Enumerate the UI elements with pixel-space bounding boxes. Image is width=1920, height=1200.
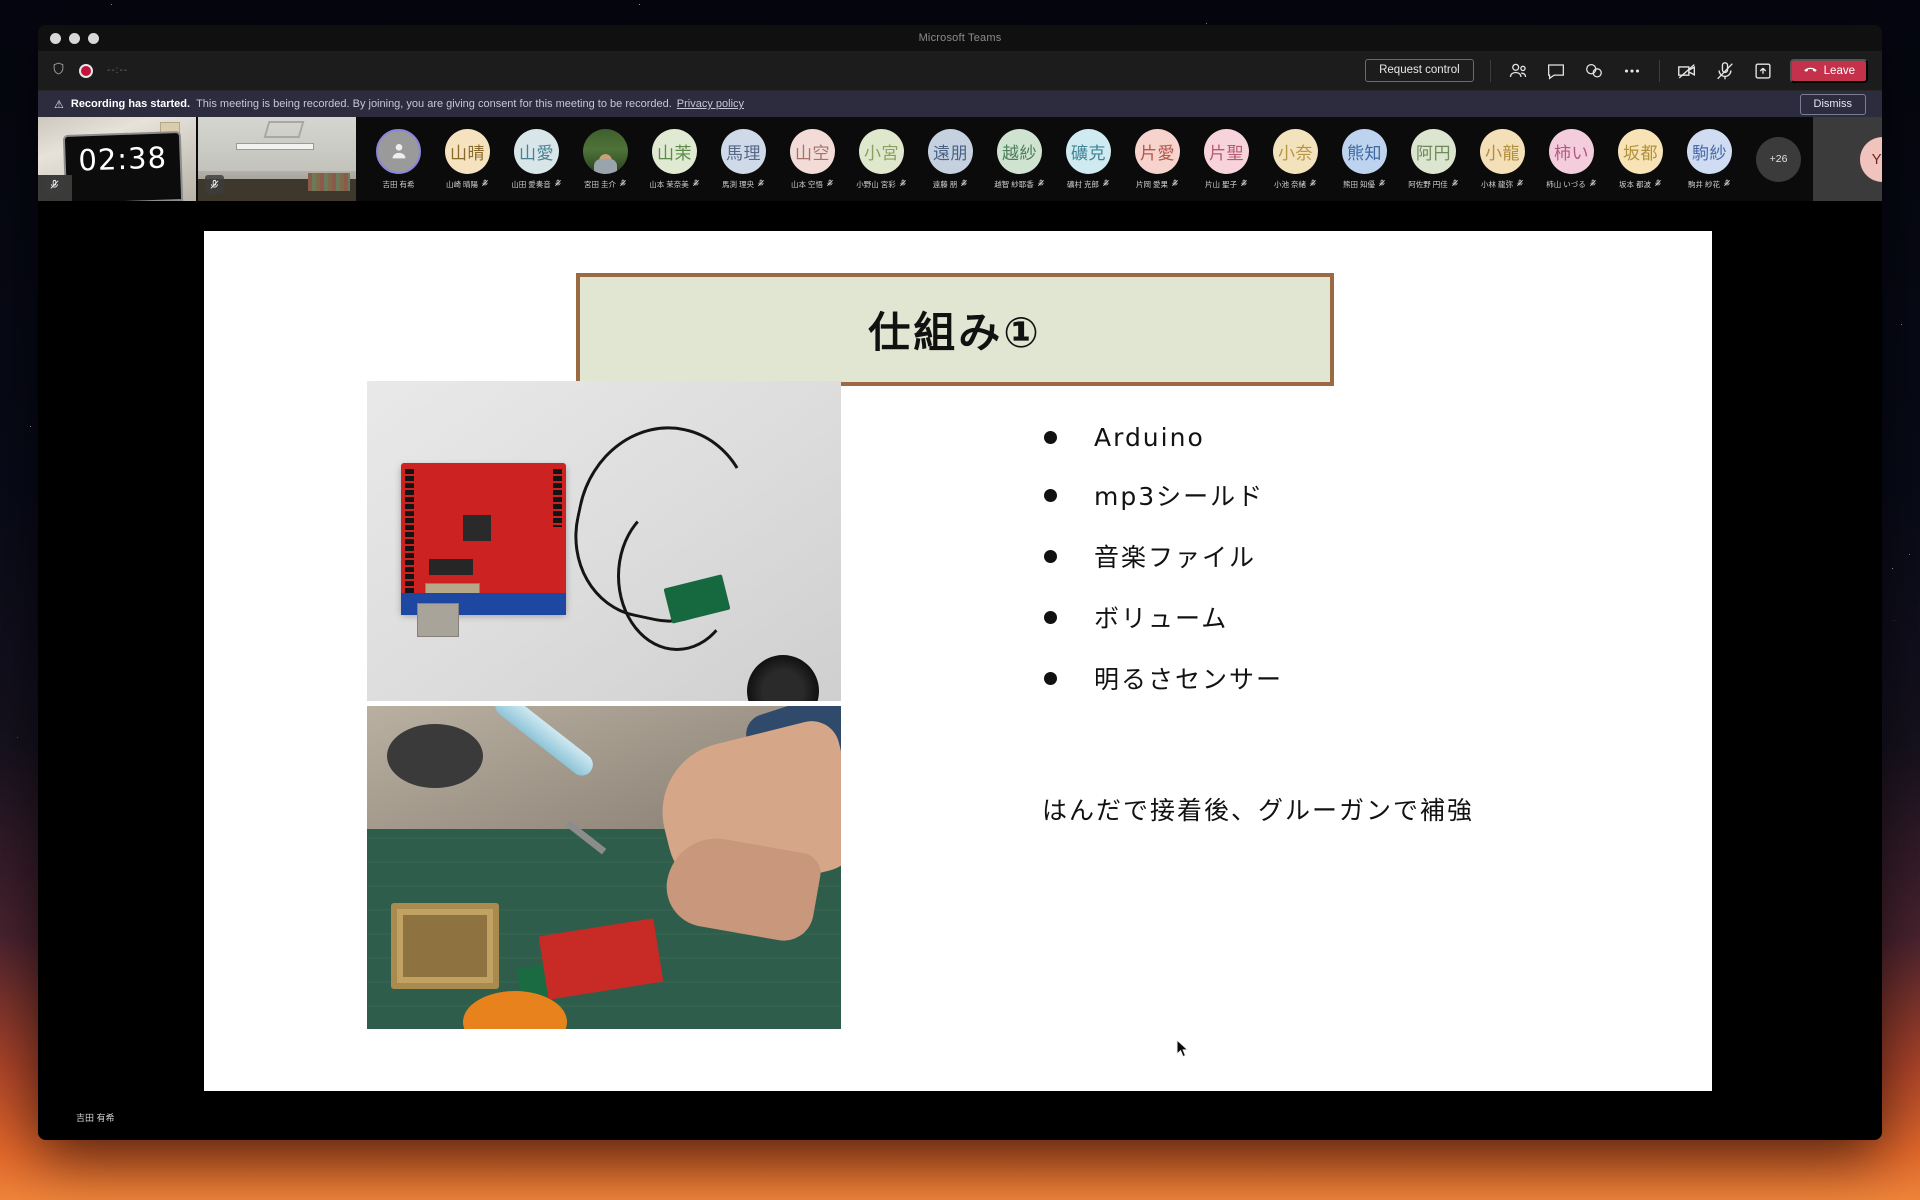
- mic-off-icon: [1654, 179, 1662, 189]
- mic-off-icon[interactable]: [1714, 60, 1736, 82]
- participant-name: 山田 愛奏音: [511, 179, 562, 190]
- shared-content-stage: 仕組み①: [38, 201, 1882, 1140]
- participant-6[interactable]: 馬理馬渕 理央: [709, 129, 778, 190]
- recording-headline: Recording has started.: [71, 98, 190, 110]
- more-options-icon[interactable]: [1621, 60, 1643, 82]
- bullet-text: 明るさセンサー: [1094, 660, 1283, 696]
- participant-name: 片岡 愛果: [1136, 179, 1179, 190]
- ceiling-vent: [264, 121, 305, 138]
- photo-soldering: [367, 706, 841, 1029]
- ic-chip: [429, 559, 473, 575]
- video-tile-clock[interactable]: 02:38: [38, 117, 198, 201]
- overflow-participants[interactable]: +26: [1744, 137, 1813, 182]
- participant-5[interactable]: 山茉山本 茉奈美: [640, 129, 709, 190]
- mic-off-icon: [1240, 179, 1248, 189]
- pin-header-right: [553, 469, 562, 527]
- participant-name: 馬渕 理央: [722, 179, 765, 190]
- meeting-toolbar: --:-- Request control: [38, 51, 1882, 91]
- bullet-dot-icon: [1044, 489, 1057, 502]
- star: [1909, 554, 1910, 555]
- camera-off-icon[interactable]: [1676, 60, 1698, 82]
- slide-bullet-list: Arduinomp3シールド音楽ファイルボリューム明るさセンサー: [1044, 423, 1283, 721]
- participant-12[interactable]: 片愛片岡 愛果: [1123, 129, 1192, 190]
- avatar: 礦克: [1066, 129, 1111, 174]
- avatar: 山茉: [652, 129, 697, 174]
- mic-off-icon: [554, 179, 562, 189]
- mic-off-icon: [960, 179, 968, 189]
- participant-name: 阿佐野 円佳: [1408, 179, 1459, 190]
- recording-body-text: This meeting is being recorded. By joini…: [196, 98, 672, 110]
- mic-off-icon: [1589, 179, 1597, 189]
- mic-off-icon: [692, 179, 700, 189]
- mic-off-icon: [481, 179, 489, 189]
- participant-name: 山本 茉奈美: [649, 179, 700, 190]
- leave-button[interactable]: Leave: [1790, 59, 1868, 83]
- participant-1[interactable]: 吉田 有希: [364, 129, 433, 190]
- bullet-item-2: mp3シールド: [1044, 477, 1283, 513]
- star: [1894, 620, 1895, 621]
- desk-clutter: [387, 724, 483, 788]
- leave-button-label: Leave: [1824, 65, 1855, 77]
- bullet-dot-icon: [1044, 431, 1057, 444]
- star: [30, 426, 31, 427]
- star: [111, 4, 112, 5]
- participant-roster-strip[interactable]: 02:38 吉田 有希山晴山崎 晴陽山愛山田: [38, 117, 1882, 201]
- warning-icon: ⚠: [54, 98, 64, 111]
- soldering-iron: [491, 706, 598, 780]
- mic-off-icon: [1451, 179, 1459, 189]
- participant-name: 宮田 圭介: [584, 179, 627, 190]
- participant-name: 小林 龍弥: [1481, 179, 1524, 190]
- avatar: 片愛: [1135, 129, 1180, 174]
- participant-7[interactable]: 山空山本 空悟: [778, 129, 847, 190]
- overflow-count-badge: +26: [1756, 137, 1801, 182]
- participant-16[interactable]: 阿円阿佐野 円佳: [1399, 129, 1468, 190]
- avatar: 坂都: [1618, 129, 1663, 174]
- ceiling-light: [236, 143, 314, 150]
- star: [639, 4, 640, 5]
- star: [1901, 324, 1902, 325]
- star: [17, 737, 18, 738]
- participant-name: 山崎 晴陽: [446, 179, 489, 190]
- bullet-dot-icon: [1044, 611, 1057, 624]
- participant-13[interactable]: 片聖片山 聖子: [1192, 129, 1261, 190]
- meeting-timer: --:--: [107, 65, 128, 76]
- pin-header-left: [405, 469, 414, 607]
- participant-4[interactable]: 宮田 圭介: [571, 129, 640, 190]
- participant-name: 遠藤 朋: [933, 179, 969, 190]
- avatar-photo: [583, 129, 628, 174]
- avatar: 阿円: [1411, 129, 1456, 174]
- avatar: 遠朋: [928, 129, 973, 174]
- slide-footnote: はんだで接着後、グルーガンで補強: [1042, 791, 1474, 827]
- participant-name: 小野山 宮彩: [856, 179, 907, 190]
- mic-off-icon: [1171, 179, 1179, 189]
- countdown-timer-value: 02:38: [65, 133, 181, 185]
- mouse-cursor: [1176, 1039, 1189, 1063]
- avatar: 小宮: [859, 129, 904, 174]
- slide-title-text: 仕組み①: [868, 299, 1042, 360]
- presenter-name-label: 吉田 有希: [76, 1111, 115, 1124]
- participant-18[interactable]: 柿い柿山 いづる: [1537, 129, 1606, 190]
- slide-title-box: 仕組み①: [576, 273, 1334, 386]
- record-icon[interactable]: [79, 64, 93, 78]
- toolbar-divider-2: [1659, 60, 1660, 82]
- avatar: 山愛: [514, 129, 559, 174]
- avatar: 馬理: [721, 129, 766, 174]
- star: [1892, 568, 1893, 569]
- bullet-text: mp3シールド: [1094, 477, 1264, 513]
- avatar: 熊知: [1342, 129, 1387, 174]
- toolbar-divider: [1490, 60, 1491, 82]
- bullet-item-5: 明るさセンサー: [1044, 660, 1283, 696]
- mic-off-icon: [1309, 179, 1317, 189]
- microcontroller-chip: [463, 515, 491, 541]
- bullet-text: ボリューム: [1094, 599, 1228, 635]
- shield-icon: [52, 61, 65, 81]
- video-tile-room[interactable]: [198, 117, 358, 201]
- participant-name: 柿山 いづる: [1546, 179, 1597, 190]
- avatar: 駒紗: [1687, 129, 1732, 174]
- mic-off-icon: [1516, 179, 1524, 189]
- bullet-item-4: ボリューム: [1044, 599, 1283, 635]
- participant-name: 坂本 都波: [1619, 179, 1662, 190]
- bullet-item-3: 音楽ファイル: [1044, 538, 1283, 574]
- avatar: 越紗: [997, 129, 1042, 174]
- self-video-tile[interactable]: YN: [1813, 117, 1882, 201]
- tablet-device: 02:38: [63, 131, 183, 201]
- share-screen-icon[interactable]: [1752, 60, 1774, 82]
- participant-name: 小池 奈緒: [1274, 179, 1317, 190]
- participant-name: 越智 紗耶香: [994, 179, 1045, 190]
- participant-14[interactable]: 小奈小池 奈緒: [1261, 129, 1330, 190]
- bullet-text: Arduino: [1094, 423, 1205, 452]
- participant-15[interactable]: 熊知熊田 知優: [1330, 129, 1399, 190]
- participant-9[interactable]: 遠朋遠藤 朋: [916, 129, 985, 190]
- participant-avatars[interactable]: 吉田 有希山晴山崎 晴陽山愛山田 愛奏音宮田 圭介山茉山本 茉奈美馬理馬渕 理央…: [358, 117, 1813, 201]
- participant-19[interactable]: 坂都坂本 都波: [1606, 129, 1675, 190]
- solder-sponge-box: [391, 903, 499, 989]
- mic-off-icon: [1037, 179, 1045, 189]
- people-icon[interactable]: [1507, 60, 1529, 82]
- avatar: 小奈: [1273, 129, 1318, 174]
- mic-off-icon: [1378, 179, 1386, 189]
- avatar: 片聖: [1204, 129, 1249, 174]
- bullet-text: 音楽ファイル: [1094, 538, 1256, 574]
- mic-off-icon: [1723, 179, 1731, 189]
- bullet-dot-icon: [1044, 672, 1057, 685]
- star: [1206, 23, 1207, 24]
- chat-icon[interactable]: [1545, 60, 1567, 82]
- participant-name: 吉田 有希: [382, 179, 414, 190]
- teams-window: Microsoft Teams --:-- Request control: [38, 25, 1882, 1140]
- mic-off-icon: [826, 179, 834, 189]
- participant-17[interactable]: 小龍小林 龍弥: [1468, 129, 1537, 190]
- avatar: YN: [1860, 137, 1883, 182]
- avatar: 山晴: [445, 129, 490, 174]
- avatar: 山空: [790, 129, 835, 174]
- window-titlebar: Microsoft Teams: [38, 25, 1882, 51]
- avatar: [376, 129, 421, 174]
- photo-arduino-mp3-shield: [367, 381, 841, 701]
- usb-port: [417, 603, 459, 637]
- participant-name: 熊田 知優: [1343, 179, 1386, 190]
- mic-off-icon: [757, 179, 765, 189]
- participant-name: 山本 空悟: [791, 179, 834, 190]
- dismiss-banner-button[interactable]: Dismiss: [1800, 94, 1867, 115]
- request-control-button[interactable]: Request control: [1365, 59, 1474, 82]
- participant-11[interactable]: 礦克礦村 克郎: [1054, 129, 1123, 190]
- bullet-item-1: Arduino: [1044, 423, 1283, 452]
- participant-2[interactable]: 山晴山崎 晴陽: [433, 129, 502, 190]
- participant-name: 片山 聖子: [1205, 179, 1248, 190]
- mic-off-icon: [205, 175, 224, 194]
- avatar: 柿い: [1549, 129, 1594, 174]
- hangup-icon: [1803, 62, 1818, 80]
- mic-off-icon: [899, 179, 907, 189]
- window-title: Microsoft Teams: [38, 32, 1882, 44]
- speaker: [747, 655, 819, 701]
- presentation-slide: 仕組み①: [204, 231, 1712, 1091]
- mic-off-icon: [45, 175, 64, 194]
- arduino-board: [401, 463, 566, 613]
- mic-off-icon: [619, 179, 627, 189]
- avatar: 小龍: [1480, 129, 1525, 174]
- participant-3[interactable]: 山愛山田 愛奏音: [502, 129, 571, 190]
- bullet-dot-icon: [1044, 550, 1057, 563]
- participant-8[interactable]: 小宮小野山 宮彩: [847, 129, 916, 190]
- privacy-policy-link[interactable]: Privacy policy: [677, 98, 744, 110]
- participant-20[interactable]: 駒紗駒井 紗花: [1675, 129, 1744, 190]
- mic-off-icon: [1102, 179, 1110, 189]
- participant-name: 礦村 克郎: [1067, 179, 1110, 190]
- books: [308, 173, 350, 191]
- reactions-icon[interactable]: [1583, 60, 1605, 82]
- recording-banner: ⚠ Recording has started. This meeting is…: [38, 91, 1882, 117]
- participant-name: 駒井 紗花: [1688, 179, 1731, 190]
- participant-10[interactable]: 越紗越智 紗耶香: [985, 129, 1054, 190]
